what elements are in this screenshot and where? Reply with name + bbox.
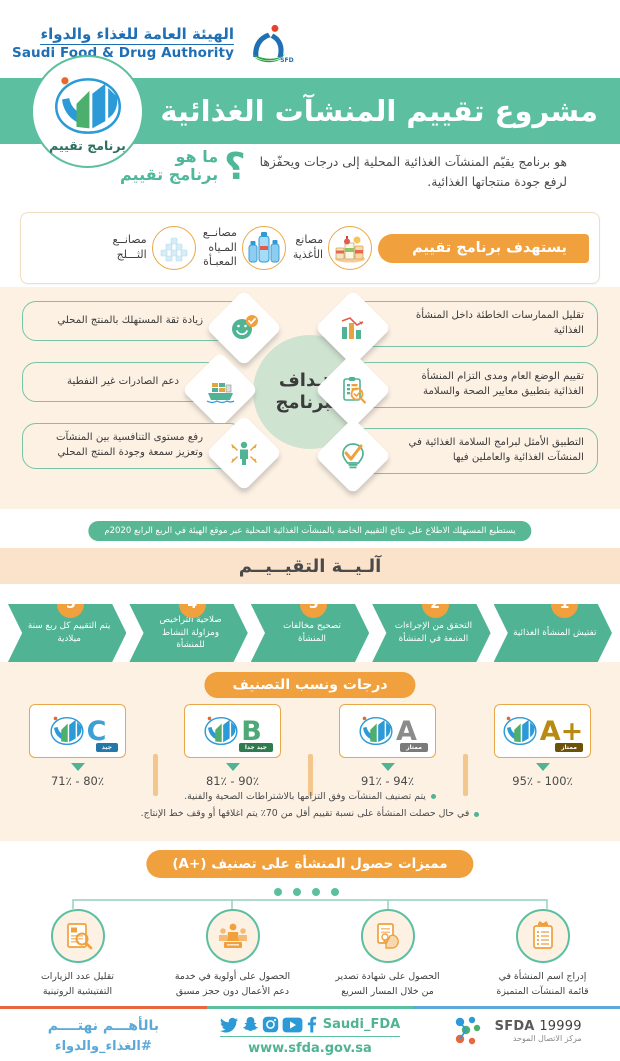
certificate-hand-icon: [361, 909, 415, 963]
goal-text-2: زيادة ثقة المستهلك بالمنتج المحلي: [22, 301, 244, 341]
target-item-ice: مصانــع الثـــلج: [113, 226, 196, 270]
goal-item-2: زيادة ثقة المستهلك بالمنتج المحلي: [22, 301, 244, 341]
business-support-icon: [206, 909, 260, 963]
intro-section: هو برنامج يقيّم المنشآت الغذائية المحلية…: [0, 148, 620, 193]
intro-label-line-1: ما هو: [120, 148, 218, 166]
target-water-line-2: المـياه: [203, 241, 237, 256]
grade-note-2-text: في حال حصلت المنشأة على نسبة تقييم أقل م…: [141, 805, 470, 822]
grade-item-a: A ممتاز 91٪ - 94٪: [310, 704, 465, 788]
benefit-4-line-2: التفتيشية الروتينية: [10, 985, 145, 1000]
benefit-text-3: الحصول على أولوية في خدمة دعم الأعمال دو…: [165, 970, 300, 999]
contact-text: SFDA 19999 مركز الاتصال الموحد: [495, 1019, 582, 1043]
goal-text-3: تقييم الوضع العام ومدى التزام المنشأة ال…: [353, 362, 598, 408]
grade-logo-icon: [49, 714, 85, 748]
mechanism-step-2: 2 التحقق من الإجراءات المتبعة في المنشأة: [372, 604, 490, 662]
grade-note-1: يتم تصنيف المنشآت وفق التزامها بالاشتراط…: [0, 788, 620, 805]
footer-social-col: Saudi_FDA www.sfda.gov.sa: [207, 1016, 414, 1056]
hashtag-block: بالأهـــم نهتــــم #الغذاء_والدواء: [48, 1016, 159, 1057]
footer-rule-orange: [0, 1006, 207, 1009]
svg-text:SFDA: SFDA: [280, 57, 294, 64]
target-food-line-2: الأغذية: [293, 248, 323, 263]
benefit-2-line-1: الحصول على شهادة تصدير: [320, 970, 455, 985]
grade-card-b: B جيد جدا: [184, 704, 281, 758]
contact-subtitle: مركز الاتصال الموحد: [495, 1034, 582, 1043]
mechanism-step-3-number: 3: [300, 591, 327, 618]
twitter-icon[interactable]: [220, 1017, 239, 1033]
water-bottles-icon: [242, 226, 286, 270]
benefit-item-1: إدراج اسم المنشأة في قائمة المنشآت المتم…: [465, 909, 620, 999]
target-facilities-section: يستهدف برنامج تقييم: [0, 212, 620, 284]
target-ice-line-2: الثـــلج: [113, 248, 147, 263]
grade-arrow-aplus: [536, 763, 550, 771]
contact-brand: SFDA: [495, 1019, 535, 1034]
intro-line-2: لرفع جودة منتجاتها الغذائية.: [260, 172, 567, 192]
benefit-text-1: إدراج اسم المنشأة في قائمة المنشآت المتم…: [475, 970, 610, 999]
grade-arrow-c: [71, 763, 85, 771]
mechanism-step-1-number: 1: [551, 591, 578, 618]
ice-cubes-icon: [152, 226, 196, 270]
contact-line-1: SFDA 19999: [495, 1019, 582, 1034]
header: الهيئة العامة للغذاء والدواء Saudi Food …: [0, 0, 620, 205]
target-label-food: مصانع الأغذية: [293, 233, 323, 262]
footer-contact-col: SFDA 19999 مركز الاتصال الموحد: [413, 1016, 620, 1046]
mechanism-title-band: آلـيــة التقيــيــم: [0, 548, 620, 584]
benefit-4-line-1: تقليل عدد الزيارات: [10, 970, 145, 985]
target-water-line-1: مصانــع: [203, 226, 237, 241]
grade-card-aplus: A+ ممتاز: [494, 704, 591, 758]
grade-card-c: C جيد: [29, 704, 126, 758]
grade-range-a: 91٪ - 94٪: [361, 774, 414, 788]
grade-logo-icon: [502, 714, 538, 748]
grade-sub-c: جيد: [96, 743, 118, 752]
goal-item-5: التطبيق الأمثل لبرامج السلامة الغذائية ف…: [353, 428, 598, 474]
mechanism-step-5-text: يتم التقييم كل ربع سنة ميلادية: [26, 620, 112, 646]
grade-letter-c: C: [87, 718, 107, 745]
target-item-water: مصانــع المـياه المعبـأة: [203, 226, 286, 270]
goals-section: أهـداف البرنامج تقليل الممارسات الخاطئة …: [0, 287, 620, 509]
infographic-page: الهيئة العامة للغذاء والدواء Saudi Food …: [0, 0, 620, 1061]
grade-letter-b: B: [241, 718, 262, 745]
hashtag-line-2: #الغذاء_والدواء: [48, 1037, 159, 1057]
mechanism-step-2-text: التحقق من الإجراءات المتبعة في المنشأة: [390, 620, 476, 646]
target-label-ice: مصانــع الثـــلج: [113, 233, 147, 262]
footer-rule-green: [207, 1006, 414, 1009]
grade-item-b: B جيد جدا 81٪ - 90٪: [155, 704, 310, 788]
contact-block: SFDA 19999 مركز الاتصال الموحد: [452, 1016, 582, 1046]
benefit-3-line-2: دعم الأعمال دون حجز مسبق: [165, 985, 300, 1000]
social-handle: Saudi_FDA: [323, 1017, 400, 1032]
benefit-1-line-2: قائمة المنشآت المتميزة: [475, 985, 610, 1000]
footer: SFDA 19999 مركز الاتصال الموحد: [0, 1006, 620, 1061]
question-mark-icon: ؟: [224, 151, 245, 182]
grade-sub-b: جيد جدا: [239, 743, 273, 752]
sfda-dots-icon: [452, 1016, 488, 1046]
mechanism-chevrons: 1 تفتيش المنشأة الغذائية 2 التحقق من الإ…: [8, 604, 612, 662]
mechanism-step-4: 4 صلاحية التراخيص ومزاولة النشاط للمنشأة: [129, 604, 247, 662]
goal-item-3: تقييم الوضع العام ومدى التزام المنشأة ال…: [353, 362, 598, 408]
benefits-section: مميزات حصول المنشأة على تصنيف (+A): [0, 841, 620, 1006]
grade-logo-icon: [203, 714, 239, 748]
mechanism-step-4-text: صلاحية التراخيص ومزاولة النشاط للمنشأة: [147, 614, 233, 652]
goal-item-4: دعم الصادرات غير النفطية: [22, 362, 220, 402]
grade-notes: يتم تصنيف المنشآت وفق التزامها بالاشتراط…: [0, 788, 620, 823]
mechanism-steps-area: 1 تفتيش المنشأة الغذائية 2 التحقق من الإ…: [0, 584, 620, 662]
bullet-dot-icon: [474, 812, 479, 817]
target-label-water: مصانــع المـياه المعبـأة: [203, 226, 237, 270]
grade-sub-a: ممتاز: [400, 743, 428, 752]
grade-arrow-b: [226, 763, 240, 771]
target-item-food: مصانع الأغذية: [293, 226, 372, 270]
grade-item-c: C جيد 71٪ - 80٪: [0, 704, 155, 788]
food-cans-icon: [328, 226, 372, 270]
social-icons-row: Saudi_FDA: [220, 1016, 400, 1037]
mechanism-step-3-text: تصحيح مخالفات المنشأة: [269, 620, 355, 646]
social-block: Saudi_FDA www.sfda.gov.sa: [220, 1016, 400, 1056]
sfda-name-arabic: الهيئة العامة للغذاء والدواء: [40, 27, 234, 45]
intro-question: ؟ ما هو برنامج تقييم: [120, 148, 246, 185]
benefits-connector: [0, 888, 620, 910]
benefit-1-line-1: إدراج اسم المنشأة في: [475, 970, 610, 985]
sfda-name-english: Saudi Food & Drug Authority: [12, 47, 234, 61]
grade-card-a: A ممتاز: [339, 704, 436, 758]
grade-letter-a: A: [396, 718, 417, 745]
facebook-icon[interactable]: [306, 1016, 317, 1033]
grade-arrow-a: [381, 763, 395, 771]
goal-text-5: التطبيق الأمثل لبرامج السلامة الغذائية ف…: [353, 428, 598, 474]
page-title: مشروع تقييم المنشآت الغذائية: [160, 94, 598, 128]
program-swoosh-icon: [51, 75, 125, 137]
website-url[interactable]: www.sfda.gov.sa: [220, 1041, 400, 1056]
grade-range-c: 71٪ - 80٪: [51, 774, 104, 788]
hashtag-line-1: بالأهـــم نهتــــم: [48, 1016, 159, 1037]
mechanism-step-5: 5 يتم التقييم كل ربع سنة ميلادية: [8, 604, 126, 662]
target-ice-line-1: مصانــع: [113, 233, 147, 248]
benefit-item-3: الحصول على أولوية في خدمة دعم الأعمال دو…: [155, 909, 310, 999]
intro-line-1: هو برنامج يقيّم المنشآت الغذائية المحلية…: [260, 152, 567, 172]
intro-question-label: ما هو برنامج تقييم: [120, 148, 218, 185]
benefit-item-2: الحصول على شهادة تصدير من خلال المسار ال…: [310, 909, 465, 999]
snapchat-icon[interactable]: [242, 1016, 259, 1033]
benefit-list: إدراج اسم المنشأة في قائمة المنشآت المتم…: [0, 909, 620, 999]
instagram-icon[interactable]: [262, 1016, 279, 1033]
mechanism-title: آلـيــة التقيــيــم: [239, 556, 382, 577]
contact-number: 19999: [539, 1019, 581, 1034]
target-food-line-1: مصانع: [293, 233, 323, 248]
grade-letter-aplus: A+: [540, 718, 584, 745]
goal-text-1: تقليل الممارسات الخاطئة داخل المنشأة الغ…: [353, 301, 598, 347]
benefit-item-4: تقليل عدد الزيارات التفتيشية الروتينية: [0, 909, 155, 999]
footer-divider-rules: [0, 1006, 620, 1009]
target-pill-label: يستهدف برنامج تقييم: [378, 234, 589, 263]
footer-hashtag-col: بالأهـــم نهتــــم #الغذاء_والدواء: [0, 1016, 207, 1057]
intro-description: هو برنامج يقيّم المنشآت الغذائية المحلية…: [260, 152, 567, 193]
intro-label-line-2: برنامج تقييم: [120, 166, 218, 184]
target-facilities-card: يستهدف برنامج تقييم: [20, 212, 600, 284]
benefits-pill-label: مميزات حصول المنشأة على تصنيف (+A): [146, 850, 473, 878]
mechanism-step-2-number: 2: [422, 591, 449, 618]
youtube-icon[interactable]: [282, 1017, 303, 1033]
footer-rule-blue: [413, 1006, 620, 1009]
clipboard-crown-icon: [516, 909, 570, 963]
grade-note-1-text: يتم تصنيف المنشآت وفق التزامها بالاشتراط…: [184, 788, 426, 805]
benefit-3-line-1: الحصول على أولوية في خدمة: [165, 970, 300, 985]
footer-columns: SFDA 19999 مركز الاتصال الموحد: [0, 1016, 620, 1057]
bullet-dot-icon: [431, 794, 436, 799]
grade-item-aplus: A+ ممتاز 95٪ - 100٪: [465, 704, 620, 788]
mechanism-step-4-number: 4: [179, 591, 206, 618]
target-water-line-3: المعبـأة: [203, 255, 237, 270]
document-search-icon: [51, 909, 105, 963]
goal-item-1: تقليل الممارسات الخاطئة داخل المنشأة الغ…: [353, 301, 598, 347]
benefit-text-2: الحصول على شهادة تصدير من خلال المسار ال…: [320, 970, 455, 999]
benefit-2-line-2: من خلال المسار السريع: [320, 985, 455, 1000]
grade-note-2: في حال حصلت المنشأة على نسبة تقييم أقل م…: [0, 805, 620, 822]
grade-logo-icon: [358, 714, 394, 748]
grade-range-aplus: 95٪ - 100٪: [512, 774, 572, 788]
mechanism-step-3: 3 تصحيح مخالفات المنشأة: [251, 604, 369, 662]
mechanism-step-5-number: 5: [57, 591, 84, 618]
mechanism-step-1-text: تفتيش المنشأة الغذائية: [513, 627, 596, 640]
grade-range-b: 81٪ - 90٪: [206, 774, 259, 788]
sfda-emblem-icon: SFDA: [242, 22, 294, 66]
mechanism-step-1: 1 تفتيش المنشأة الغذائية: [494, 604, 612, 662]
goal-text-6: رفع مستوى التنافسية بين المنشآت وتعزيز س…: [22, 423, 244, 469]
grade-list: A+ ممتاز 95٪ - 100٪ A: [0, 704, 620, 788]
benefit-text-4: تقليل عدد الزيارات التفتيشية الروتينية: [10, 970, 145, 999]
sfda-logo: الهيئة العامة للغذاء والدواء Saudi Food …: [12, 22, 294, 66]
sfda-logo-text: الهيئة العامة للغذاء والدواء Saudi Food …: [12, 27, 234, 61]
grades-pill-label: درجات ونسب التصنيف: [204, 672, 415, 698]
grades-section: درجات ونسب التصنيف A+ ممتاز 95٪: [0, 662, 620, 841]
goal-item-6: رفع مستوى التنافسية بين المنشآت وتعزيز س…: [22, 423, 244, 469]
grade-sub-aplus: ممتاز: [555, 743, 583, 752]
consumer-note-banner: يستطيع المستهلك الاطلاع على نتائج التقيي…: [88, 521, 531, 541]
